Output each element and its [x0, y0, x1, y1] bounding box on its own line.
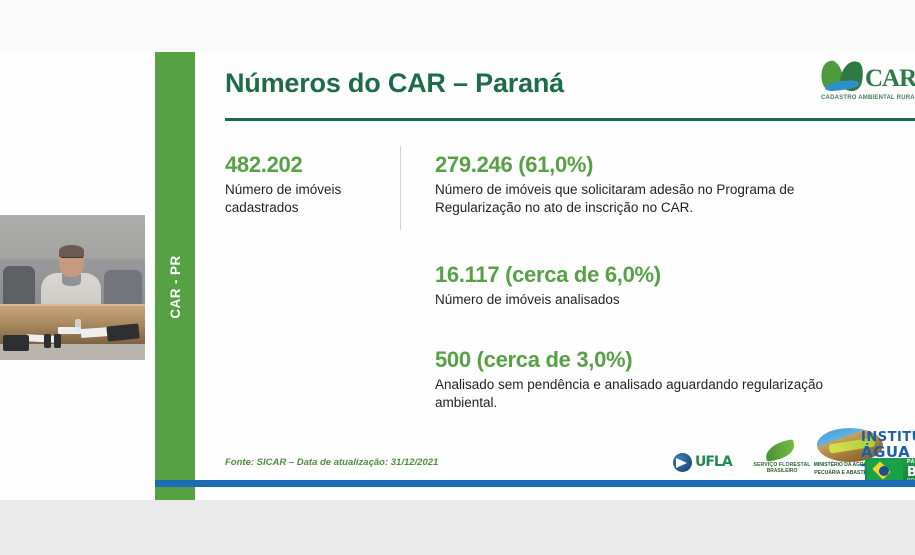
flag-globe-icon: [879, 466, 889, 476]
car-logo-subtitle: CADASTRO AMBIENTAL RURAL: [821, 95, 915, 101]
video-conference-stage: CAR - PR Números do CAR – Paraná CAR CAD…: [0, 0, 915, 555]
video-device-1: [44, 334, 51, 349]
video-device-3: [3, 335, 29, 351]
stat-block-no-pending: 500 (cerca de 3,0%) Analisado sem pendên…: [435, 347, 865, 412]
ufla-logo: UFLA: [673, 452, 745, 474]
stat-value-registered: 482.202: [225, 152, 390, 178]
slide-section-label: CAR - PR: [155, 267, 235, 307]
ufla-arrow-icon: [676, 458, 687, 468]
servico-florestal-logo: SERVIÇO FLORESTAL BRASILEIRO: [751, 442, 813, 476]
video-person-hair: [59, 245, 84, 257]
stat-block-registered: 482.202 Número de imóveis cadastrados: [225, 152, 390, 217]
video-device-2: [54, 334, 61, 349]
stat-value-analyzed: 16.117 (cerca de 6,0%): [435, 262, 865, 288]
stat-description-no-pending: Analisado sem pendência e analisado agua…: [435, 376, 865, 412]
column-divider: [400, 146, 401, 230]
stage-top-background: [0, 0, 915, 52]
ufla-logo-word: UFLA: [695, 454, 732, 470]
slide-green-sidebar: CAR - PR: [155, 52, 195, 500]
car-logo: CAR CADASTRO AMBIENTAL RURAL: [817, 57, 915, 109]
video-glass: [75, 319, 81, 332]
stage-bottom-background: [0, 500, 915, 555]
leaf-icon: [764, 439, 797, 462]
slide-bottom-blue-rule: [155, 480, 915, 487]
video-chair-left: [3, 266, 35, 310]
sfb-line-2: BRASILEIRO: [751, 468, 813, 474]
video-person-glasses: [61, 257, 83, 262]
stat-block-adhesion: 279.246 (61,0%) Número de imóveis que so…: [435, 152, 865, 217]
stat-description-registered: Número de imóveis cadastrados: [225, 181, 390, 217]
stat-value-no-pending: 500 (cerca de 3,0%): [435, 347, 865, 373]
instituto-agua-e-terra-logo: INSTITUTO ÁGUA E TERRA PÁTRIA AMADA BRAS…: [861, 424, 915, 482]
stat-description-analyzed: Número de imóveis analisados: [435, 291, 865, 309]
governo-federal-logo: PÁTRIA AMADA BRASIL GOVERNO FEDERAL: [865, 458, 915, 482]
car-logo-word: CAR: [865, 65, 915, 93]
participant-video-tile[interactable]: [0, 215, 145, 360]
slide-title: Números do CAR – Paraná: [225, 68, 564, 99]
source-note: Fonte: SICAR – Data de atualização: 31/1…: [225, 457, 438, 468]
title-underline-rule: [225, 118, 915, 121]
footer-logo-strip: UFLA SERVIÇO FLORESTAL BRASILEIRO MINIST…: [655, 424, 915, 486]
ufla-globe-icon: [673, 453, 692, 472]
stat-value-adhesion: 279.246 (61,0%): [435, 152, 865, 178]
slide-canvas: CAR - PR Números do CAR – Paraná CAR CAD…: [155, 52, 915, 500]
brazil-flag-icon: [867, 460, 903, 480]
shared-presentation-slide[interactable]: CAR - PR Números do CAR – Paraná CAR CAD…: [155, 52, 915, 500]
stat-block-analyzed: 16.117 (cerca de 6,0%) Número de imóveis…: [435, 262, 865, 309]
stat-description-adhesion: Número de imóveis que solicitaram adesão…: [435, 181, 865, 217]
